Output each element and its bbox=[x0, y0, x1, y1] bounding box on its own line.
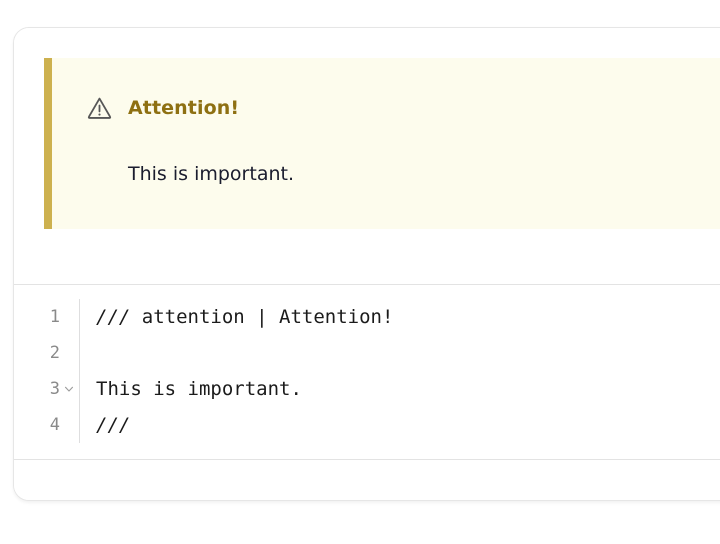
code-token-text: This is important. bbox=[96, 380, 302, 399]
line-number: 2 bbox=[50, 345, 60, 362]
attention-callout: Attention! This is important. bbox=[44, 58, 720, 229]
line-number: 3 bbox=[50, 381, 60, 398]
code-line: /// bbox=[96, 407, 720, 443]
code-content[interactable]: /// attention | Attention! This is impor… bbox=[80, 299, 720, 443]
callout-header: Attention! bbox=[86, 95, 239, 122]
code-token-marker: /// bbox=[96, 416, 130, 435]
code-editor: 1 2 3 4 bbox=[14, 299, 720, 443]
code-token-marker: /// bbox=[96, 308, 130, 327]
callout-title: Attention! bbox=[128, 99, 239, 118]
warning-triangle-icon bbox=[86, 95, 113, 122]
fold-spacer bbox=[63, 419, 75, 431]
card-footer bbox=[14, 460, 720, 500]
fold-spacer bbox=[63, 347, 75, 359]
gutter-row: 1 bbox=[14, 299, 79, 335]
preview-pane: Attention! This is important. bbox=[14, 28, 720, 285]
example-card: Attention! This is important. 1 2 3 bbox=[13, 27, 720, 501]
gutter-row: 3 bbox=[14, 371, 79, 407]
code-line: /// attention | Attention! bbox=[96, 299, 720, 335]
code-line bbox=[96, 335, 720, 371]
fold-spacer bbox=[63, 311, 75, 323]
code-pane: 1 2 3 4 bbox=[14, 285, 720, 460]
code-token-text: attention | Attention! bbox=[130, 308, 393, 327]
callout-body-text: This is important. bbox=[128, 162, 294, 188]
line-number: 1 bbox=[50, 309, 60, 326]
chevron-down-icon[interactable] bbox=[63, 383, 75, 395]
gutter-row: 2 bbox=[14, 335, 79, 371]
line-number: 4 bbox=[50, 417, 60, 434]
code-line: This is important. bbox=[96, 371, 720, 407]
line-number-gutter: 1 2 3 4 bbox=[14, 299, 80, 443]
gutter-row: 4 bbox=[14, 407, 79, 443]
